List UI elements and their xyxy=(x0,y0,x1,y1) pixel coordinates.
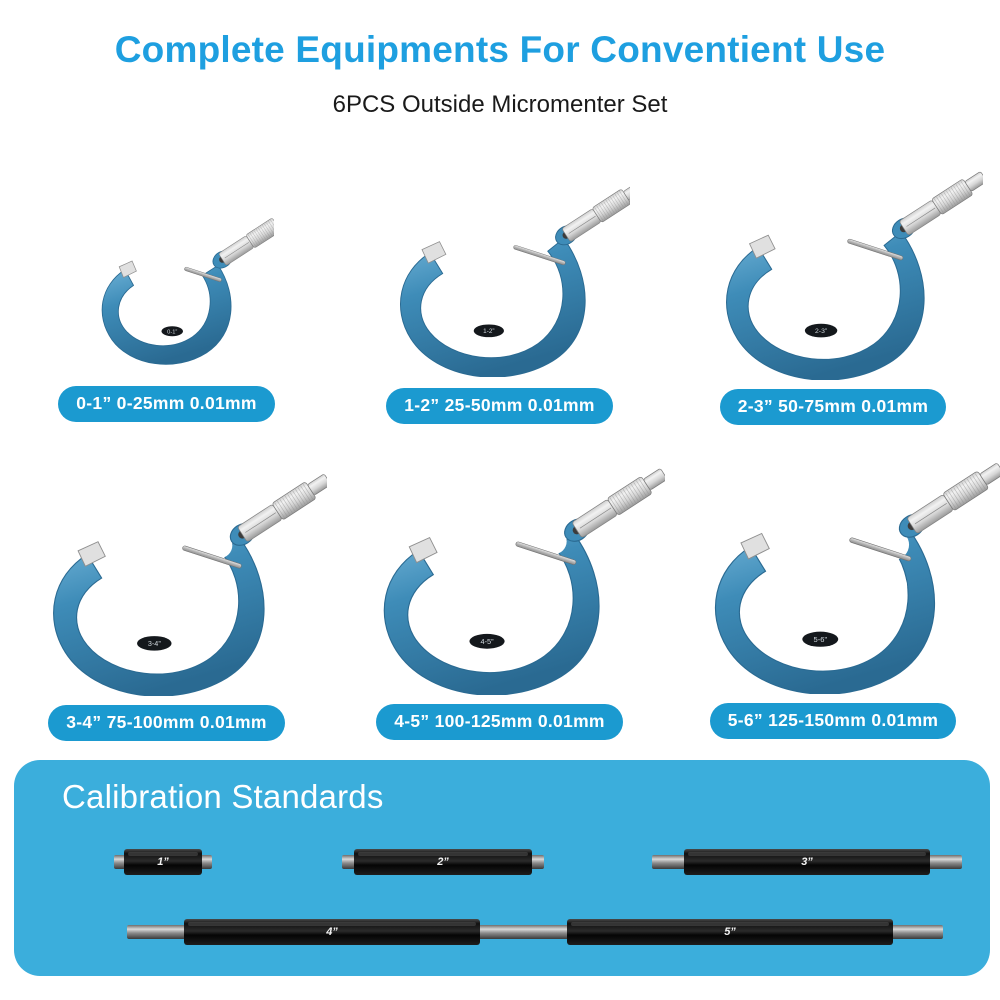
micrometer-image-mic-0-1: 0-1” xyxy=(59,180,274,380)
calibration-standards-title: Calibration Standards xyxy=(62,778,384,816)
frame-nameplate-text: 4-5” xyxy=(480,637,494,646)
calibration-rod-illustration xyxy=(340,845,546,879)
calibration-rod-illustration xyxy=(650,845,964,879)
frame-lightening-hole-6 xyxy=(873,498,896,521)
header: Complete Equipments For Conventient Use … xyxy=(0,0,1000,119)
frame-lightening-hole-0 xyxy=(443,308,464,329)
micrometer-row-1: 0-1” 0-1” 0-25mm 0.01mm xyxy=(0,150,1000,425)
rod-end-right xyxy=(887,925,943,939)
calibration-rod-illustration xyxy=(515,915,945,949)
spec-badge-mic-0-1: 0-1” 0-25mm 0.01mm xyxy=(58,386,275,422)
frame-lightening-hole-4 xyxy=(862,256,889,283)
rod-highlight xyxy=(571,922,889,926)
micrometer-illustration: 3-4” xyxy=(7,451,327,696)
micrometer-row-2: 3-4” 3-4” 75-100mm 0.01mm xyxy=(0,433,1000,741)
rod-end-left xyxy=(517,925,573,939)
calibration-rod-rod-3[interactable]: 3” xyxy=(650,845,964,879)
micrometer-image-mic-1-2: 1-2” xyxy=(370,162,630,382)
micrometer-illustration: 4-5” xyxy=(335,445,665,695)
frame-lightening-hole-7 xyxy=(860,476,877,493)
micrometer-card-mic-1-2[interactable]: 1-2” 1-2” 25-50mm 0.01mm xyxy=(333,150,666,425)
frame-lightening-hole-3 xyxy=(512,603,547,638)
micrometer-image-mic-3-4: 3-4” xyxy=(7,451,327,701)
micrometer-image-mic-5-6: 5-6” xyxy=(661,439,1000,699)
micrometer-frame: 5-6” xyxy=(715,476,934,694)
frame-body xyxy=(102,265,231,364)
frame-nameplate-text: 3-4” xyxy=(147,639,160,648)
micrometer-illustration: 1-2” xyxy=(370,162,630,377)
frame-lightening-hole-0 xyxy=(747,597,764,614)
frame-nameplate-text: 1-2” xyxy=(483,328,494,335)
frame-lightening-hole-4 xyxy=(535,564,568,597)
calibration-rod-rod-1[interactable]: 1” xyxy=(112,845,214,879)
frame-lightening-hole-0 xyxy=(761,302,778,319)
frame-lightening-hole-1 xyxy=(439,613,467,641)
micrometer-card-mic-5-6[interactable]: 5-6” 5-6” 125-150mm 0.01mm xyxy=(666,433,1000,741)
micrometer-illustration: 5-6” xyxy=(661,439,1000,694)
frame-nameplate-text: 5-6” xyxy=(813,635,827,644)
page-title: Complete Equipments For Conventient Use xyxy=(0,30,1000,71)
frame-lightening-hole-4 xyxy=(201,567,234,600)
micrometer-grid: 0-1” 0-1” 0-25mm 0.01mm xyxy=(0,150,1000,741)
frame-lightening-hole-6 xyxy=(198,505,218,525)
rod-end-left xyxy=(127,925,190,939)
frame-lightening-hole-4 xyxy=(869,567,907,605)
spec-badge-mic-1-2: 1-2” 25-50mm 0.01mm xyxy=(386,388,613,424)
calibration-rod-illustration xyxy=(112,845,214,879)
frame-lightening-hole-1 xyxy=(767,607,793,633)
frame-lightening-hole-3 xyxy=(844,294,873,323)
spec-badge-mic-3-4: 3-4” 75-100mm 0.01mm xyxy=(48,705,285,741)
micrometer-card-mic-4-5[interactable]: 4-5” 4-5” 100-125mm 0.01mm xyxy=(333,433,666,741)
micrometer-card-mic-3-4[interactable]: 3-4” 3-4” 75-100mm 0.01mm xyxy=(0,433,333,741)
frame-lightening-hole-3 xyxy=(837,603,879,645)
micrometer-image-mic-2-3: 2-3” xyxy=(683,150,983,385)
micrometer-head xyxy=(571,465,665,539)
micrometer-card-mic-2-3[interactable]: 2-3” 2-3” 50-75mm 0.01mm xyxy=(666,150,1000,425)
spec-badge-mic-5-6: 5-6” 125-150mm 0.01mm xyxy=(710,703,957,739)
rod-highlight xyxy=(128,852,198,856)
calibration-rod-rod-4[interactable]: 4” xyxy=(125,915,539,949)
frame-lightening-hole-6 xyxy=(532,500,552,520)
micrometer-card-mic-0-1[interactable]: 0-1” 0-1” 0-25mm 0.01mm xyxy=(0,150,333,425)
frame-lightening-hole-0 xyxy=(418,602,437,621)
micrometer-head xyxy=(236,471,326,543)
micrometer-illustration: 0-1” xyxy=(59,180,274,375)
frame-lightening-hole-1 xyxy=(108,615,135,642)
micrometer-illustration: 2-3” xyxy=(683,150,983,380)
spec-badge-mic-2-3: 2-3” 50-75mm 0.01mm xyxy=(720,389,947,425)
calibration-rod-rod-5[interactable]: 5” xyxy=(515,915,945,949)
micrometer-head xyxy=(561,179,630,242)
frame-lightening-hole-0 xyxy=(87,605,105,623)
calibration-rod-rod-2[interactable]: 2” xyxy=(340,845,546,879)
frame-nameplate-text: 2-3” xyxy=(815,328,828,335)
micrometer-head xyxy=(906,460,1000,535)
page-subtitle: 6PCS Outside Micromenter Set xyxy=(0,91,1000,119)
micrometer-frame: 2-3” xyxy=(727,228,925,380)
frame-lightening-hole-3 xyxy=(524,270,548,294)
rod-highlight xyxy=(188,922,476,926)
rod-highlight xyxy=(358,852,528,856)
micrometer-head xyxy=(218,209,274,266)
micrometer-head xyxy=(899,169,983,237)
frame-lightening-hole-3 xyxy=(178,606,212,640)
frame-nameplate-text: 0-1” xyxy=(167,329,177,335)
micrometer-image-mic-4-5: 4-5” xyxy=(335,445,665,700)
product-infographic: Complete Equipments For Conventient Use … xyxy=(0,0,1000,1000)
frame-lightening-hole-2 xyxy=(498,307,520,329)
spec-badge-mic-4-5: 4-5” 100-125mm 0.01mm xyxy=(376,704,623,740)
calibration-rod-illustration xyxy=(125,915,539,949)
rod-highlight xyxy=(688,852,926,856)
frame-lightening-hole-1 xyxy=(782,307,806,331)
